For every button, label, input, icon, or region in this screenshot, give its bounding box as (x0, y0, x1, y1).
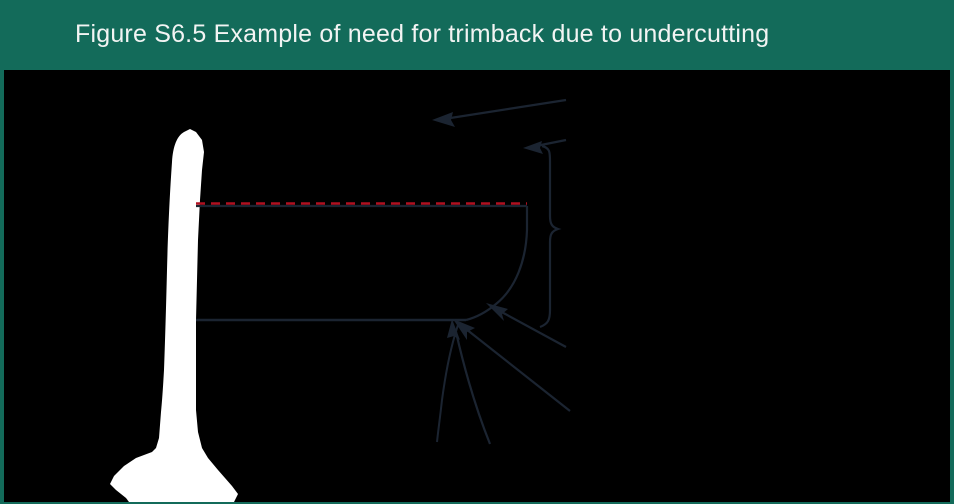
page-title: Figure S6.5 Example of need for trimback… (75, 21, 769, 49)
title-bar: Figure S6.5 Example of need for trimback… (0, 0, 954, 70)
undercutting-trimback-diagram (4, 70, 950, 502)
slide-canvas: Figure S6.5 Example of need for trimback… (0, 0, 954, 504)
figure-panel (4, 70, 950, 502)
figure-background (4, 70, 950, 502)
